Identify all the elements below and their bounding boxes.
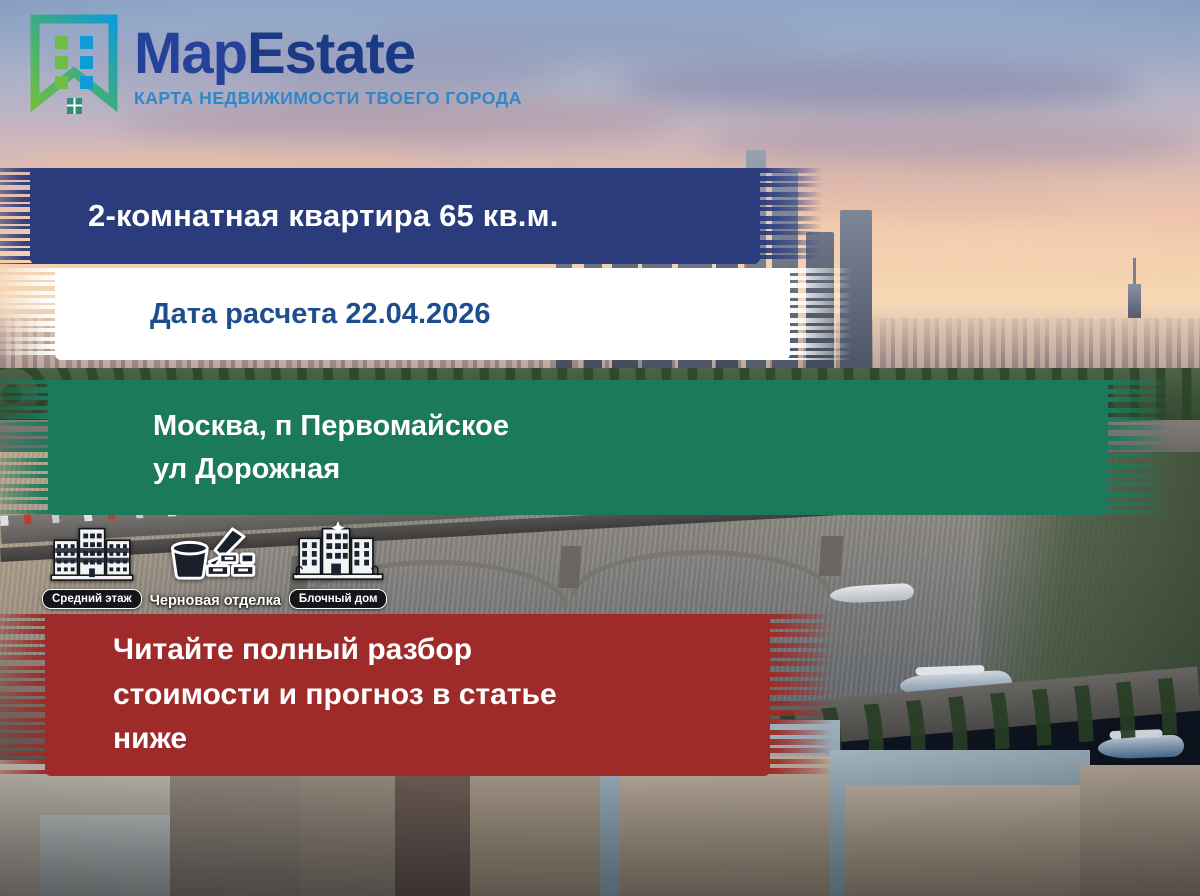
feature-mid-floor[interactable]: Средний этаж bbox=[42, 519, 142, 609]
cta-banner[interactable]: Читайте полный разбор стоимости и прогно… bbox=[45, 614, 770, 776]
feature-label: Средний этаж bbox=[42, 589, 142, 609]
brush-edge-right bbox=[762, 614, 832, 776]
brand-name-part2: Estate bbox=[247, 21, 415, 86]
brand-name: MapEstate bbox=[134, 25, 522, 83]
brand-logo[interactable]: MapEstate КАРТА НЕДВИЖИМОСТИ ТВОЕГО ГОРО… bbox=[28, 14, 522, 118]
mid-floor-buildings-icon bbox=[49, 519, 135, 586]
brush-edge-left bbox=[0, 268, 63, 360]
feature-rough-finish[interactable]: Черновая отделка bbox=[150, 523, 281, 609]
cta-line-3: ниже bbox=[113, 717, 770, 761]
address-line-2: ул Дорожная bbox=[153, 448, 1108, 490]
feature-label: Блочный дом bbox=[289, 589, 388, 609]
brush-edge-right bbox=[1100, 380, 1170, 515]
brand-name-part1: Map bbox=[134, 21, 247, 86]
brush-edge-right bbox=[782, 268, 852, 360]
brush-edge-right bbox=[752, 168, 822, 264]
brand-wordmark: MapEstate КАРТА НЕДВИЖИМОСТИ ТВОЕГО ГОРО… bbox=[134, 25, 522, 108]
address-text-block: Москва, п Первомайское ул Дорожная bbox=[48, 405, 1108, 489]
feature-label: Черновая отделка bbox=[150, 593, 281, 609]
property-feature-badges: Средний этаж bbox=[42, 517, 382, 609]
brand-tagline: КАРТА НЕДВИЖИМОСТИ ТВОЕГО ГОРОДА bbox=[134, 90, 522, 108]
address-line-1: Москва, п Первомайское bbox=[153, 405, 1108, 447]
calculation-date-text: Дата расчета 22.04.2026 bbox=[55, 298, 790, 331]
address-banner: Москва, п Первомайское ул Дорожная bbox=[48, 380, 1108, 515]
cta-line-2: стоимости и прогноз в статье bbox=[113, 673, 770, 717]
calculation-date-banner: Дата расчета 22.04.2026 bbox=[55, 268, 790, 360]
property-title-text: 2-комнатная квартира 65 кв.м. bbox=[30, 198, 760, 234]
cta-line-1: Читайте полный разбор bbox=[113, 628, 770, 672]
cta-text-block: Читайте полный разбор стоимости и прогно… bbox=[45, 628, 770, 761]
paint-bucket-trowel-icon bbox=[163, 523, 267, 590]
property-promo-poster: MapEstate КАРТА НЕДВИЖИМОСТИ ТВОЕГО ГОРО… bbox=[0, 0, 1200, 896]
bookmark-building-icon bbox=[28, 14, 120, 118]
block-house-building-icon bbox=[290, 519, 386, 586]
feature-block-house[interactable]: Блочный дом bbox=[289, 519, 388, 609]
property-title-banner: 2-комнатная квартира 65 кв.м. bbox=[30, 168, 760, 264]
